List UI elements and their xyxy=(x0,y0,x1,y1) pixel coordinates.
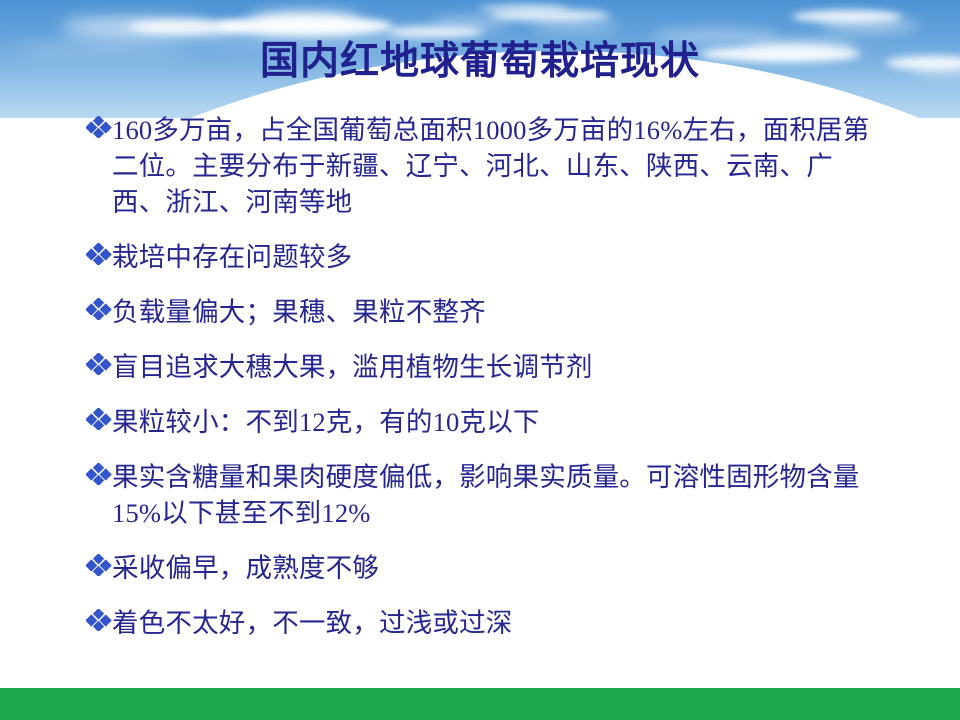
presentation-slide: 国内红地球葡萄栽培现状 160多万亩，占全国葡萄总面积1000多万亩的16%左右… xyxy=(0,0,960,720)
list-item-text: 盲目追求大穗大果，滥用植物生长调节剂 xyxy=(112,349,886,385)
diamond-bullet-icon xyxy=(86,554,112,584)
list-item-text: 果粒较小：不到12克，有的10克以下 xyxy=(112,404,886,440)
diamond-bullet-icon xyxy=(86,243,112,273)
diamond-bullet-icon xyxy=(86,408,112,438)
bullet-list: 160多万亩，占全国葡萄总面积1000多万亩的16%左右，面积居第二位。主要分布… xyxy=(86,112,886,660)
list-item[interactable]: 盲目追求大穗大果，滥用植物生长调节剂 xyxy=(86,349,886,385)
list-item[interactable]: 160多万亩，占全国葡萄总面积1000多万亩的16%左右，面积居第二位。主要分布… xyxy=(86,112,886,220)
cloud-shape xyxy=(250,11,360,26)
cloud-shape xyxy=(430,18,510,28)
list-item[interactable]: 负载量偏大；果穗、果粒不整齐 xyxy=(86,294,886,330)
cloud-shape xyxy=(530,22,620,31)
list-item[interactable]: 着色不太好，不一致，过浅或过深 xyxy=(86,605,886,641)
diamond-bullet-icon xyxy=(86,609,112,639)
list-item[interactable]: 果实含糖量和果肉硬度偏低，影响果实质量。可溶性固形物含量15%以下甚至不到12% xyxy=(86,459,886,531)
list-item-text: 负载量偏大；果穗、果粒不整齐 xyxy=(112,294,886,330)
cloud-shape xyxy=(478,4,568,13)
diamond-bullet-icon xyxy=(86,116,112,146)
footer-accent-bar xyxy=(0,688,960,720)
list-item[interactable]: 果粒较小：不到12克，有的10克以下 xyxy=(86,404,886,440)
list-item-text: 160多万亩，占全国葡萄总面积1000多万亩的16%左右，面积居第二位。主要分布… xyxy=(112,112,886,220)
diamond-bullet-icon xyxy=(86,353,112,383)
cloud-shape xyxy=(820,20,920,31)
list-item[interactable]: 采收偏早，成熟度不够 xyxy=(86,550,886,586)
list-item-text: 着色不太好，不一致，过浅或过深 xyxy=(112,605,886,641)
list-item-text: 果实含糖量和果肉硬度偏低，影响果实质量。可溶性固形物含量15%以下甚至不到12% xyxy=(112,459,886,531)
diamond-bullet-icon xyxy=(86,298,112,328)
diamond-bullet-icon xyxy=(86,463,112,493)
list-item-text: 采收偏早，成熟度不够 xyxy=(112,550,886,586)
slide-title: 国内红地球葡萄栽培现状 xyxy=(0,40,960,85)
list-item-text: 栽培中存在问题较多 xyxy=(112,239,886,275)
list-item[interactable]: 栽培中存在问题较多 xyxy=(86,239,886,275)
